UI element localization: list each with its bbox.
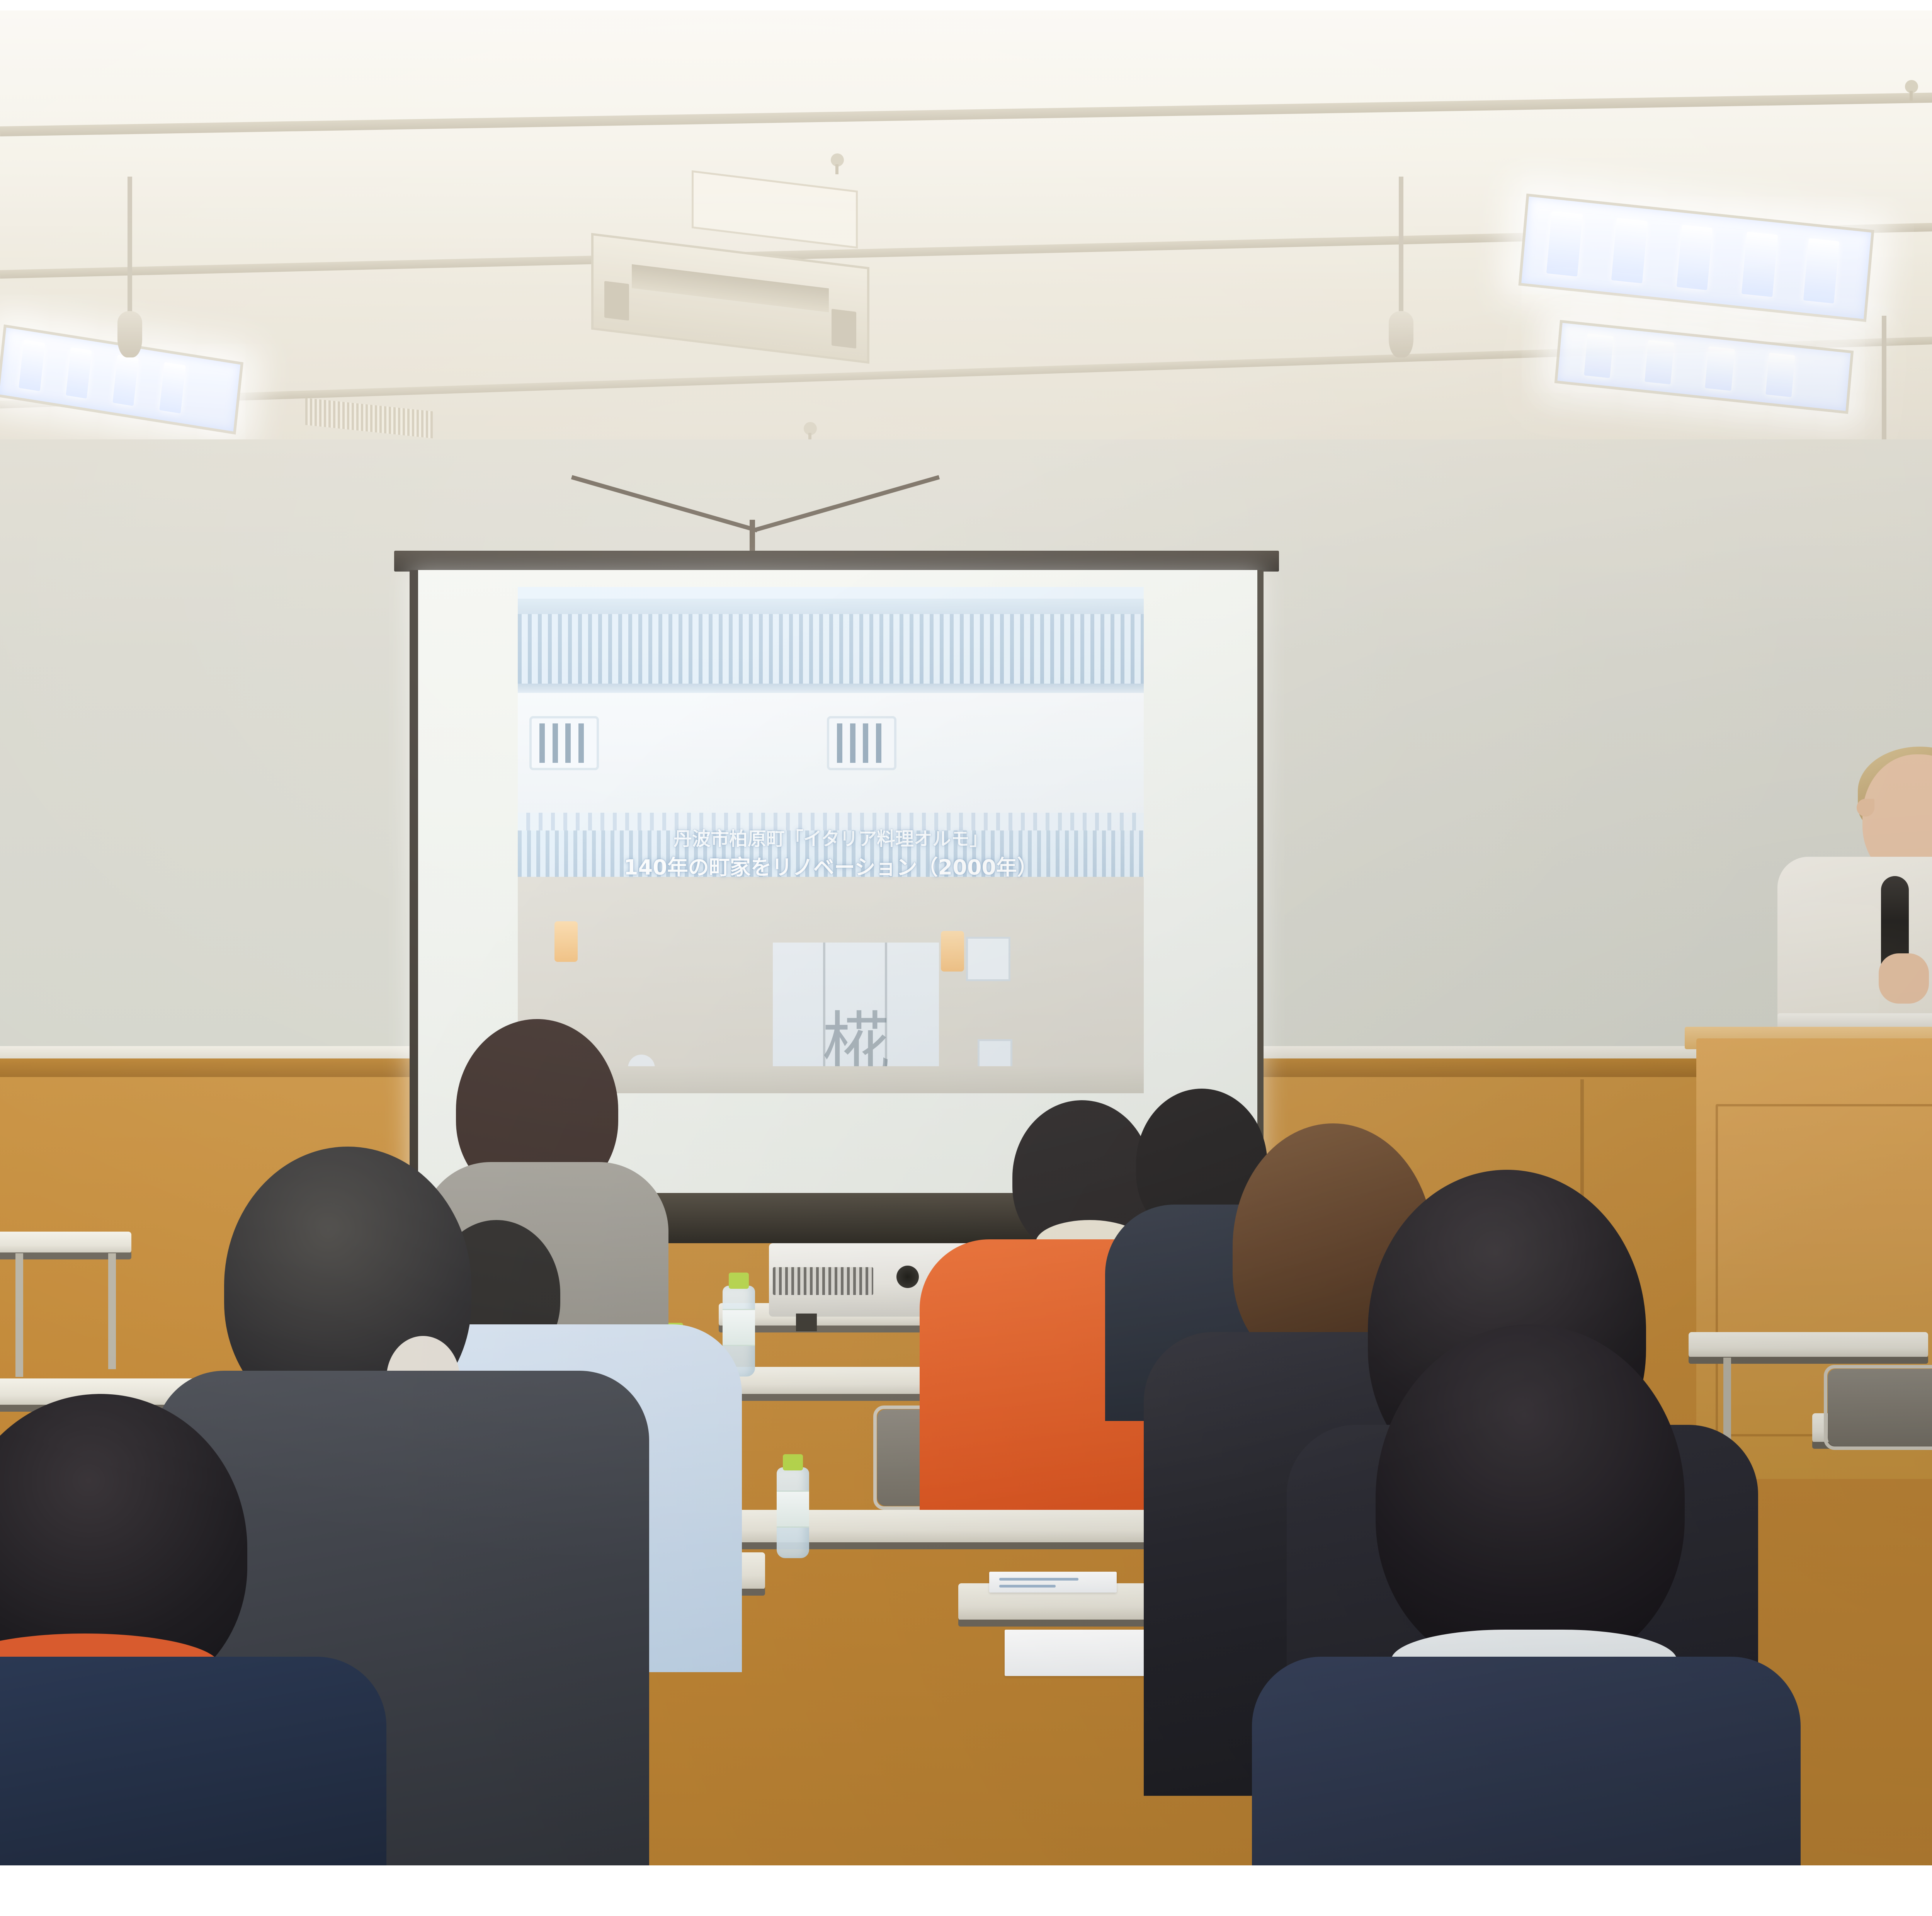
desk-leg bbox=[108, 1253, 116, 1369]
ceiling-speaker-icon bbox=[1882, 316, 1886, 443]
slide-wall-plaque bbox=[966, 937, 1010, 981]
desk bbox=[1689, 1332, 1928, 1358]
water-bottle bbox=[777, 1467, 809, 1558]
sprinkler-head-icon bbox=[831, 153, 844, 167]
slide-lattice-window bbox=[827, 716, 896, 770]
projected-slide: 椛 丹波市柏原町「イタリア料理オルモ」 140年の町家をリノベーション（2000… bbox=[518, 587, 1144, 1093]
chair bbox=[1828, 1369, 1932, 1446]
slide-roof-eave bbox=[518, 684, 1144, 693]
photograph-root: 椛 丹波市柏原町「イタリア料理オルモ」 140年の町家をリノベーション（2000… bbox=[0, 0, 1932, 1916]
slide-facade bbox=[518, 693, 1144, 813]
slide-lantern-icon bbox=[941, 931, 964, 972]
sprinkler-head-icon bbox=[804, 422, 817, 435]
screen-top-bar bbox=[394, 551, 1279, 572]
slide-caption-line1: 丹波市柏原町「イタリア料理オルモ」 bbox=[518, 827, 1144, 851]
slide-roof-tiles bbox=[518, 614, 1144, 684]
paper-handout bbox=[989, 1572, 1117, 1593]
ac-vane bbox=[832, 309, 856, 349]
desk-leg bbox=[15, 1253, 23, 1377]
slide-caption-line2: 140年の町家をリノベーション（2000年） bbox=[518, 854, 1144, 881]
ceiling-speaker-icon bbox=[1399, 177, 1403, 316]
slide-roof-ridge bbox=[518, 599, 1144, 614]
screen-hanger-hook bbox=[750, 520, 755, 551]
slide-lantern-icon bbox=[554, 921, 578, 962]
desk bbox=[0, 1232, 131, 1253]
projector-lens-icon bbox=[896, 1266, 919, 1288]
slide-lattice-window bbox=[529, 716, 599, 770]
ceiling-band bbox=[0, 80, 1932, 136]
bottle-cap bbox=[783, 1454, 803, 1470]
ceiling-speaker-icon bbox=[128, 177, 132, 316]
bottle-cap bbox=[729, 1273, 749, 1289]
presenter-hand bbox=[1879, 953, 1929, 1004]
presenter-face-profile bbox=[1857, 799, 1874, 817]
sprinkler-head-icon bbox=[1905, 80, 1918, 93]
projector-vent bbox=[773, 1267, 873, 1295]
desk bbox=[688, 1510, 1175, 1543]
ac-vane bbox=[604, 281, 629, 321]
seminar-room-scene: 椛 丹波市柏原町「イタリア料理オルモ」 140年の町家をリノベーション（2000… bbox=[0, 10, 1932, 1865]
slide-caption: 丹波市柏原町「イタリア料理オルモ」 140年の町家をリノベーション（2000年） bbox=[518, 827, 1144, 882]
slide-storefront: 椛 bbox=[518, 877, 1144, 1093]
ac-grille bbox=[632, 264, 829, 312]
